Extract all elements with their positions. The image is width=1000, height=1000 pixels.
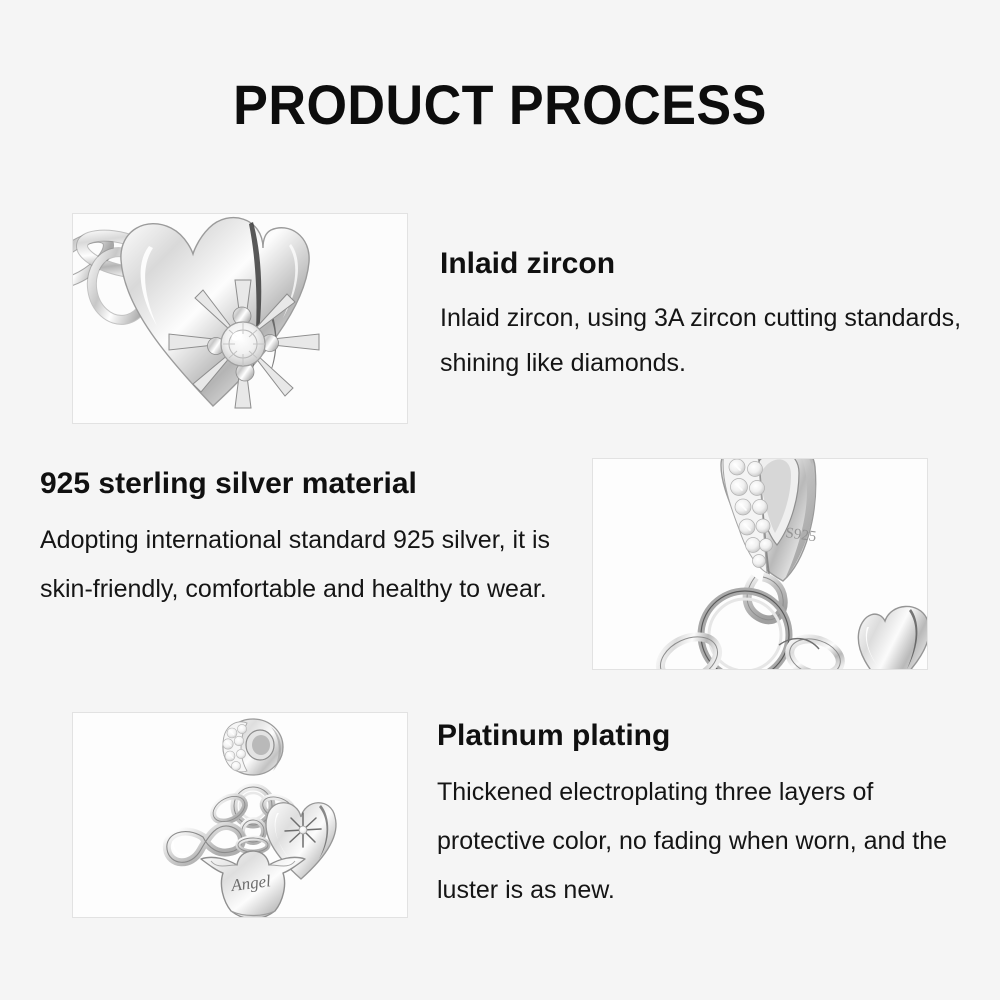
round-zircon: [221, 322, 265, 366]
page-title: PRODUCT PROCESS: [35, 74, 965, 136]
product-image-sterling-silver: S925: [592, 458, 928, 670]
pave-bail: [223, 719, 283, 775]
section-body: Adopting international standard 925 silv…: [40, 516, 580, 614]
full-pendant-illustration: Angel: [73, 713, 407, 917]
section-text-inlaid-zircon: Inlaid zircon Inlaid zircon, using 3A zi…: [440, 246, 985, 386]
heart-charm: [858, 606, 927, 669]
section-text-platinum-plating: Platinum plating Thickened electroplatin…: [437, 718, 967, 915]
section-heading: 925 sterling silver material: [40, 466, 580, 502]
section-body: Thickened electroplating three layers of…: [437, 768, 967, 915]
section-body: Inlaid zircon, using 3A zircon cutting s…: [440, 296, 985, 386]
product-image-inlaid-zircon: [72, 213, 408, 424]
product-image-platinum-plating: Angel: [72, 712, 408, 918]
pave-bail-illustration: S925: [593, 459, 927, 669]
section-text-sterling-silver: 925 sterling silver material Adopting in…: [40, 466, 580, 614]
heart-zircon-illustration: [73, 214, 407, 423]
section-heading: Inlaid zircon: [440, 246, 985, 282]
section-heading: Platinum plating: [437, 718, 967, 754]
